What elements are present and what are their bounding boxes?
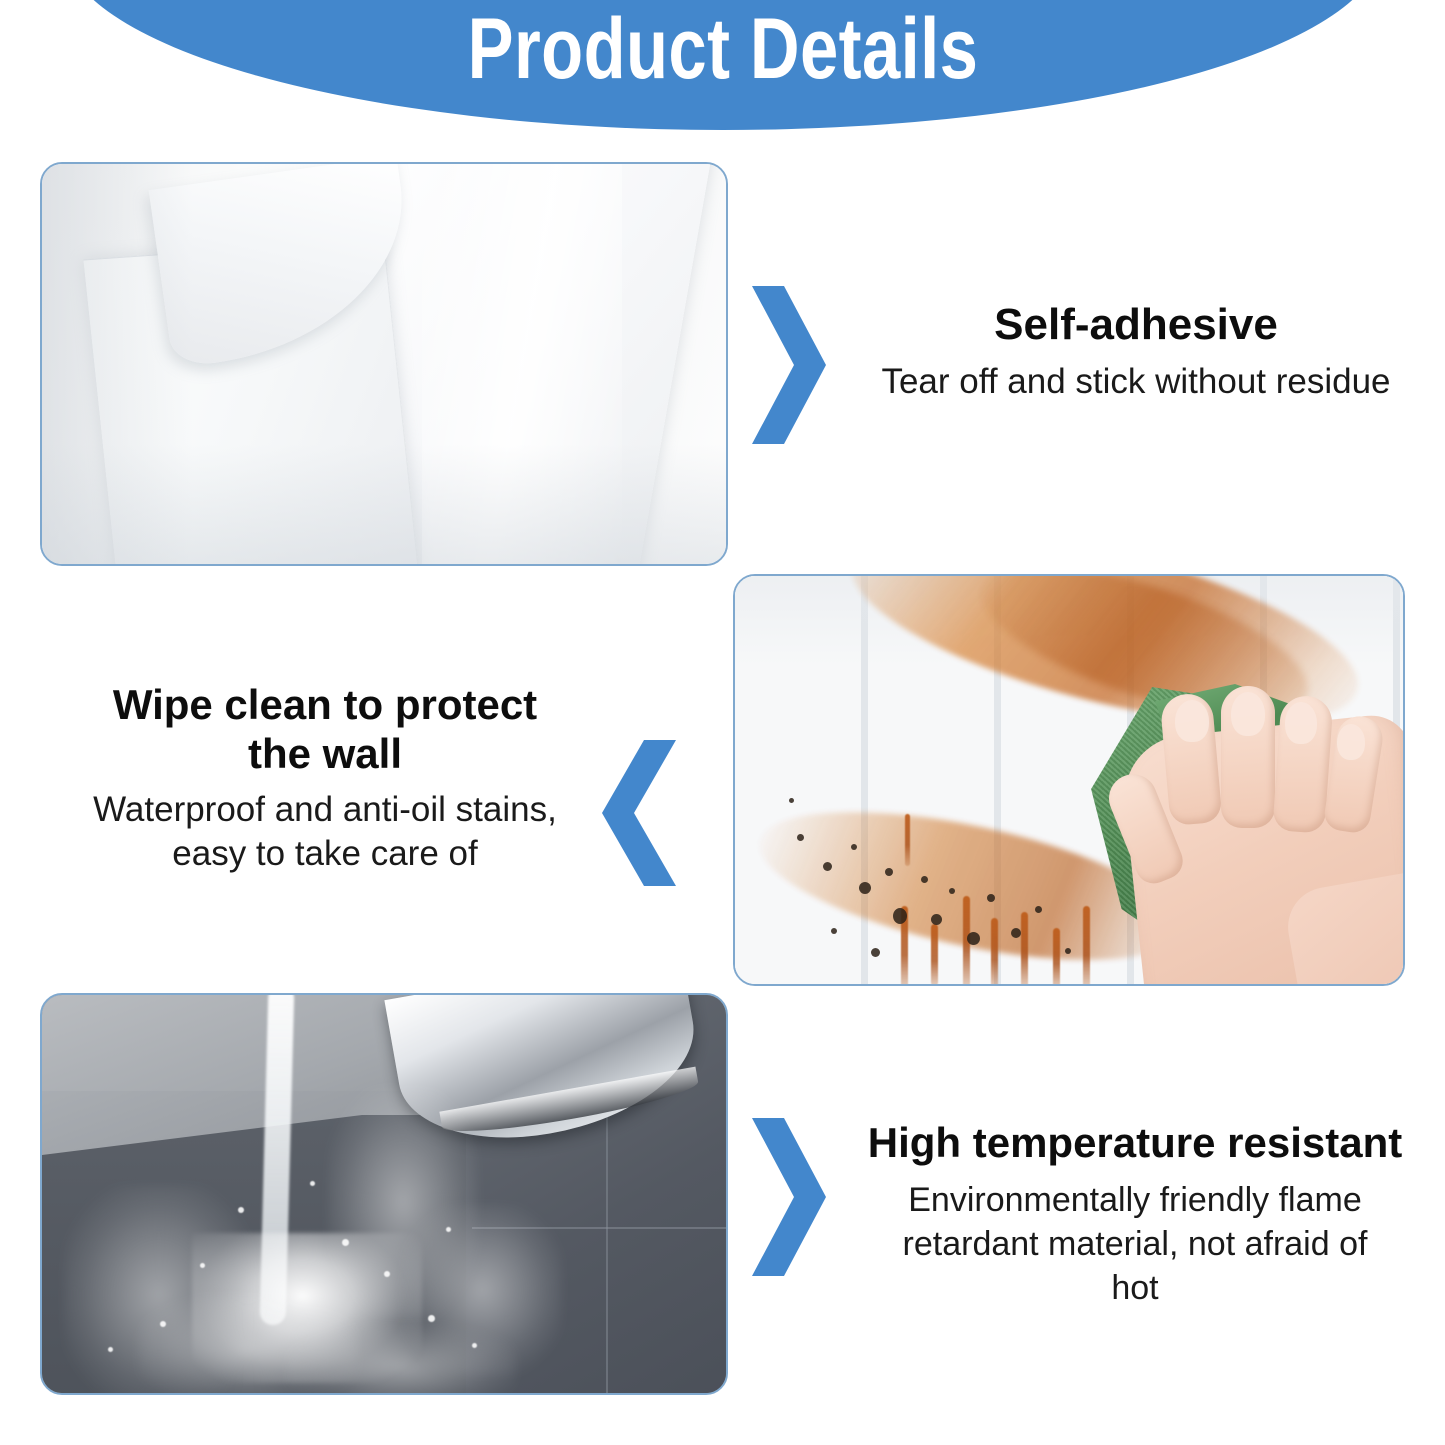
water-droplet (238, 1207, 244, 1213)
feature-text-self-adhesive: Self-adhesive Tear off and stick without… (836, 300, 1436, 403)
stain-drip (1021, 912, 1028, 986)
stain-speck (797, 834, 804, 841)
water-droplet (446, 1227, 451, 1232)
feature-title-self-adhesive: Self-adhesive (836, 300, 1436, 350)
feature-subtitle-wipe-clean: Waterproof and anti-oil stains, easy to … (55, 788, 595, 876)
water-droplet (428, 1315, 435, 1322)
water-droplet (472, 1343, 477, 1348)
fingernail (1337, 724, 1365, 760)
feature-text-wipe-clean: Wipe clean to protect the wall Waterproo… (55, 680, 595, 876)
feature-text-high-temperature: High temperature resistant Environmental… (830, 1118, 1440, 1310)
steam-mist (286, 1325, 516, 1395)
water-droplet (200, 1263, 205, 1268)
stain-speck (1011, 928, 1021, 938)
stain-speck (831, 928, 837, 934)
stain-speck (885, 868, 893, 876)
stain-speck (789, 798, 794, 803)
stain-drip (931, 924, 938, 986)
water-droplet (342, 1239, 349, 1246)
stain-speck (949, 888, 955, 894)
fingernail (1285, 702, 1317, 744)
stain-speck (823, 862, 832, 871)
feature-image-wipe-clean (733, 574, 1405, 986)
water-droplet (310, 1181, 315, 1186)
stain-speck (893, 908, 907, 924)
water-droplet (108, 1347, 113, 1352)
water-droplet (384, 1271, 390, 1277)
self-adhesive-sheets-photo (42, 164, 726, 564)
stain-speck (921, 876, 928, 883)
stain-drip (905, 814, 910, 866)
chevron-left-icon-wipe-clean (600, 740, 680, 886)
page-title: Product Details (195, 1, 1251, 97)
water-droplet (160, 1321, 166, 1327)
feature-title-wipe-clean: Wipe clean to protect the wall (55, 680, 595, 778)
stain-drip (991, 918, 998, 986)
stain-speck (871, 948, 880, 957)
feature-title-high-temperature: High temperature resistant (830, 1118, 1440, 1168)
header-banner: Product Details (63, 0, 1383, 130)
stain-drip (1083, 906, 1090, 986)
product-details-infographic: Product Details Self-adhesive Tear off a… (0, 0, 1445, 1445)
water-pour-photo (42, 995, 726, 1393)
stain-speck (859, 882, 871, 894)
fingernail (1231, 692, 1265, 736)
sheet-shadow-bottom (42, 444, 726, 564)
stain-speck (851, 844, 857, 850)
feature-subtitle-high-temperature: Environmentally friendly flame retardant… (830, 1178, 1440, 1310)
stain-speck (967, 932, 980, 945)
fingernail (1175, 700, 1209, 742)
feature-image-self-adhesive (40, 162, 728, 566)
stain-speck (1065, 948, 1071, 954)
stain-drip (1053, 928, 1060, 986)
wipe-tile-wall-photo (735, 576, 1403, 984)
stain-speck (987, 894, 995, 902)
stain-speck (1035, 906, 1042, 913)
chevron-right-icon-self-adhesive (748, 286, 828, 444)
stain-speck (931, 914, 942, 925)
feature-image-high-temperature (40, 993, 728, 1395)
feature-subtitle-self-adhesive: Tear off and stick without residue (836, 360, 1436, 403)
chevron-right-icon-high-temperature (748, 1118, 828, 1276)
